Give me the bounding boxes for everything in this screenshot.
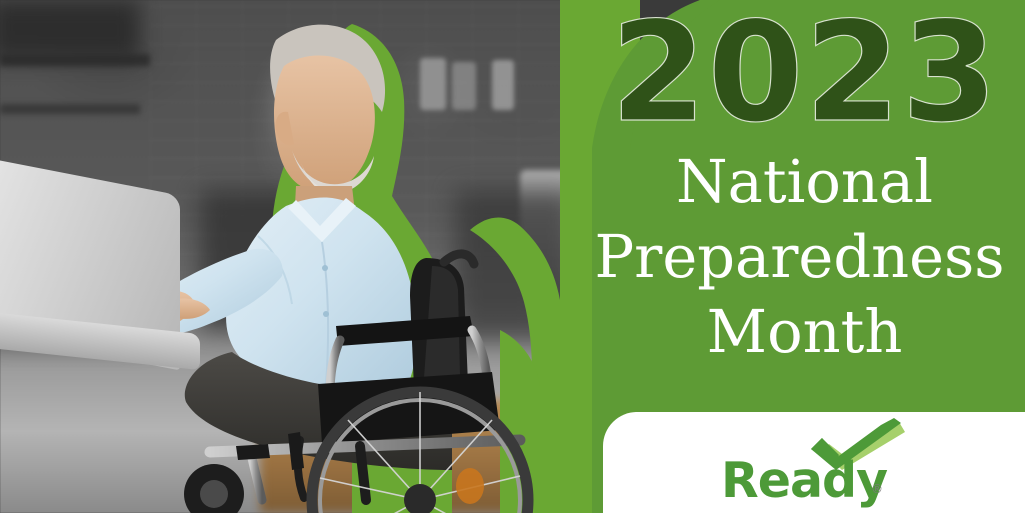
ready-wordmark: Ready (721, 456, 887, 505)
hero-photo (0, 0, 640, 513)
national-preparedness-month-banner: 2023 National Preparedness Month Ready ® (0, 0, 1025, 513)
registered-trademark-symbol: ® (871, 482, 883, 496)
ready-logo: Ready ® (721, 418, 901, 506)
ready-logo-card: Ready ® (603, 412, 1025, 513)
